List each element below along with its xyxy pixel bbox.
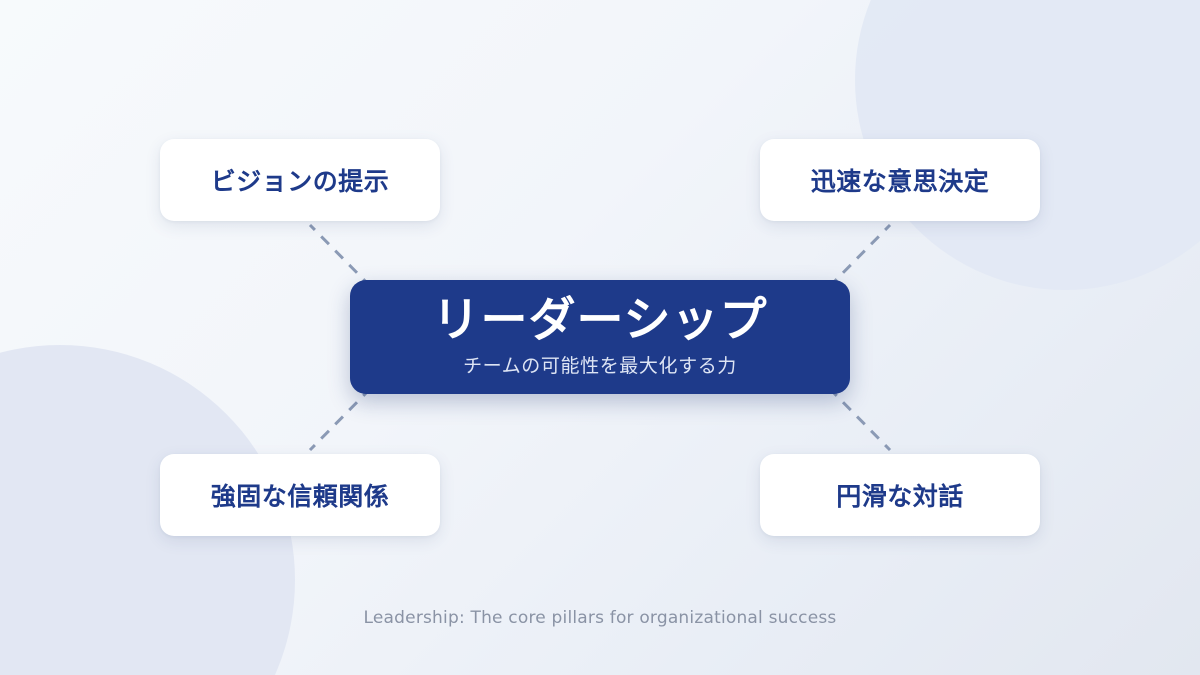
center-hub-subtitle: チームの可能性を最大化する力	[463, 351, 737, 378]
node-card-bottom-right[interactable]: 円滑な対話	[760, 454, 1040, 536]
node-card-top-left[interactable]: ビジョンの提示	[160, 139, 440, 221]
diagram-caption: Leadership: The core pillars for organiz…	[0, 608, 1200, 628]
center-hub-node[interactable]: リーダーシップ チームの可能性を最大化する力	[350, 280, 850, 394]
connector-center-to-top-right	[829, 225, 890, 287]
center-hub-title: リーダーシップ	[432, 296, 767, 345]
connector-center-to-bottom-left	[310, 388, 371, 450]
node-card-label: 円滑な対話	[836, 477, 964, 513]
node-card-top-right[interactable]: 迅速な意思決定	[760, 139, 1040, 221]
connector-center-to-bottom-right	[829, 388, 890, 450]
connector-center-to-top-left	[310, 225, 371, 287]
node-card-label: 強固な信頼関係	[211, 477, 390, 513]
node-card-bottom-left[interactable]: 強固な信頼関係	[160, 454, 440, 536]
node-card-label: 迅速な意思決定	[811, 162, 990, 198]
diagram-canvas: ビジョンの提示 迅速な意思決定 強固な信頼関係 円滑な対話 リーダーシップ チー…	[0, 0, 1200, 675]
node-card-label: ビジョンの提示	[211, 162, 390, 198]
